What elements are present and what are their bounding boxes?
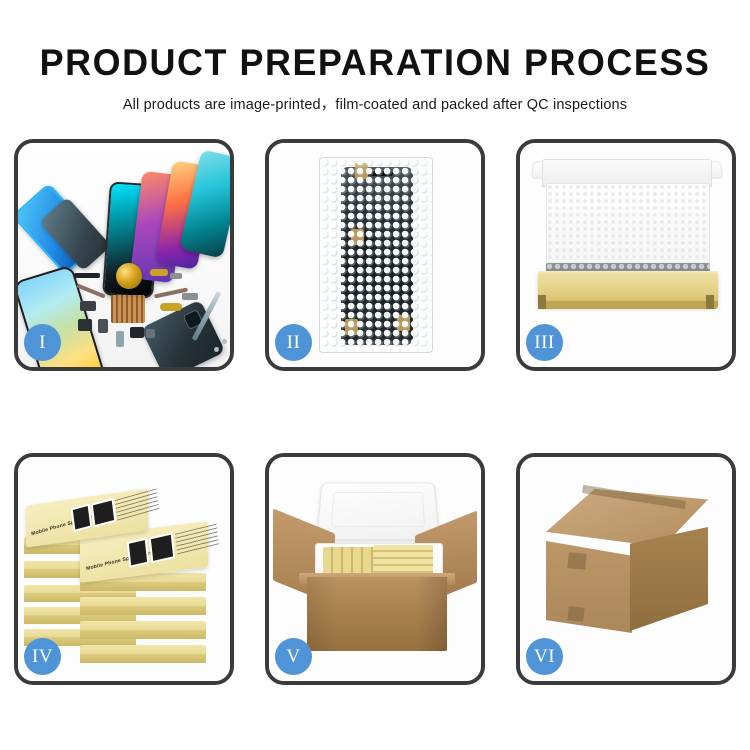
small-part-icon xyxy=(130,327,144,338)
small-part-icon xyxy=(80,301,96,311)
carton-front-face-icon xyxy=(546,541,632,633)
small-part-icon xyxy=(170,273,182,279)
box-artwork-screen-icon xyxy=(91,498,117,527)
small-part-icon xyxy=(74,273,100,278)
box-base-icon xyxy=(538,301,718,309)
carton-tape-tab-icon xyxy=(567,606,584,622)
process-step-panel-3: III xyxy=(516,139,736,371)
box-artwork-screen-icon xyxy=(149,532,176,563)
small-part-icon xyxy=(116,331,124,347)
gold-coil-part-icon xyxy=(116,263,142,289)
stacked-box-icon xyxy=(80,645,206,663)
process-step-grid: I II xyxy=(14,139,736,695)
step-badge-1: I xyxy=(24,324,61,361)
step-badge-5: V xyxy=(275,638,312,675)
small-part-icon xyxy=(146,329,155,338)
box-artwork-screen-icon xyxy=(127,538,150,568)
bubble-wrap-texture xyxy=(319,157,433,353)
stacked-box-icon xyxy=(80,621,206,639)
process-step-panel-2: II xyxy=(265,139,485,371)
chip-array-part-icon xyxy=(111,295,145,323)
screw-icon xyxy=(214,347,219,352)
process-step-panel-4: Mobile Phone Spare Parts Mobile Phone Sp… xyxy=(14,453,234,685)
product-preparation-infographic: PRODUCT PREPARATION PROCESS All products… xyxy=(0,0,750,750)
step-badge-3: III xyxy=(526,324,563,361)
box-corner-icon xyxy=(706,295,714,309)
step-badge-2: II xyxy=(275,324,312,361)
bubble-bag xyxy=(319,157,433,353)
step-badge-6: VI xyxy=(526,638,563,675)
box-spec-lines-icon xyxy=(175,524,219,556)
process-step-panel-5: V xyxy=(265,453,485,685)
carton-shading xyxy=(307,577,447,651)
small-part-icon xyxy=(182,293,198,300)
box-spec-lines-icon xyxy=(115,488,160,521)
step-badge-4: IV xyxy=(24,638,61,675)
page-subtitle: All products are image-printed，film-coat… xyxy=(0,81,750,114)
small-part-icon xyxy=(150,269,168,276)
small-part-icon xyxy=(98,319,108,333)
page-title: PRODUCT PREPARATION PROCESS xyxy=(11,0,739,81)
box-artwork-screen-icon xyxy=(71,504,93,532)
foam-lid-open-icon xyxy=(316,482,440,540)
screw-icon xyxy=(222,339,227,344)
process-step-panel-1: I xyxy=(14,139,234,371)
header: PRODUCT PREPARATION PROCESS All products… xyxy=(0,0,750,114)
small-part-icon xyxy=(160,303,182,311)
small-part-icon xyxy=(78,319,92,331)
carton-tape-tab-icon xyxy=(567,552,587,570)
stacked-box-icon xyxy=(80,597,206,615)
box-corner-icon xyxy=(538,295,546,309)
process-step-panel-6: VI xyxy=(516,453,736,685)
